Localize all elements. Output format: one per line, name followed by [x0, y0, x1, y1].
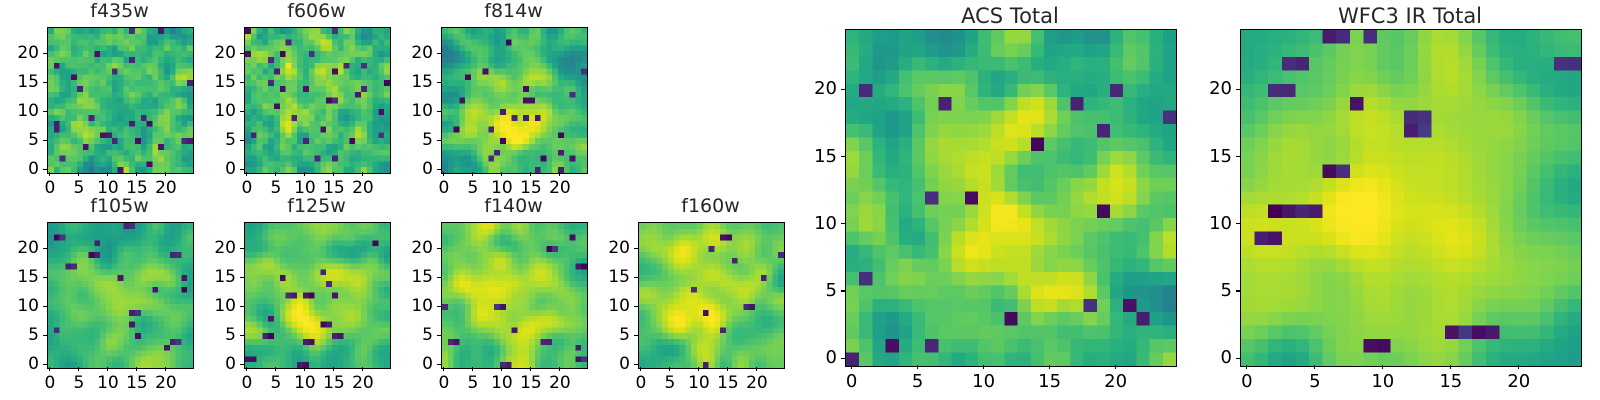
x-axis-tick: [275, 367, 276, 371]
y-axis-tick: [43, 248, 47, 249]
y-axis-tick: [634, 364, 638, 365]
x-axis-tick-label: 15: [1431, 371, 1471, 392]
y-axis-tick: [437, 82, 441, 83]
y-axis-tick: [43, 53, 47, 54]
x-axis-tick: [530, 172, 531, 176]
x-axis-tick: [530, 367, 531, 371]
y-axis-tick: [240, 53, 244, 54]
y-axis-tick: [240, 169, 244, 170]
x-axis-tick-label: 10: [964, 371, 1004, 392]
y-axis-tick-label: 15: [1, 72, 39, 92]
heatmap-image: [638, 222, 785, 369]
y-axis-tick-label: 20: [1, 43, 39, 63]
y-axis-tick-label: 0: [592, 354, 630, 374]
x-axis-tick: [1450, 365, 1451, 369]
x-axis-tick: [49, 367, 50, 371]
y-axis-tick: [43, 140, 47, 141]
y-axis-tick-label: 10: [1, 296, 39, 316]
y-axis-tick: [43, 277, 47, 278]
heatmap-image: [441, 222, 588, 369]
panel-f125w: f125w0510152005101520: [198, 195, 389, 400]
y-axis-tick-label: 0: [1, 159, 39, 179]
panel-title: f435w: [47, 0, 192, 22]
x-axis-tick: [727, 367, 728, 371]
y-axis-tick: [240, 82, 244, 83]
x-axis-tick: [78, 367, 79, 371]
y-axis-tick-label: 0: [799, 347, 837, 368]
y-axis-tick-label: 5: [1194, 280, 1232, 301]
x-axis-tick: [501, 367, 502, 371]
heatmap-pixels: [442, 223, 587, 368]
y-axis-tick-label: 15: [1, 267, 39, 287]
y-axis-tick: [43, 306, 47, 307]
panel-f160w: f160w0510152005101520: [592, 195, 783, 400]
x-axis-tick: [1115, 365, 1116, 369]
panel-f814w: f814w0510152005101520: [395, 0, 586, 205]
x-axis-tick: [443, 367, 444, 371]
y-axis-tick: [437, 277, 441, 278]
y-axis-tick: [634, 277, 638, 278]
x-axis-tick-label: 0: [832, 371, 872, 392]
x-axis-tick: [851, 365, 852, 369]
x-axis-tick: [917, 365, 918, 369]
heatmap-pixels: [48, 223, 193, 368]
y-axis-tick: [841, 156, 845, 157]
heatmap-pixels: [1241, 30, 1581, 366]
panel-wfc3_ir_total: WFC3 IR Total0510152005101520: [1194, 2, 1580, 398]
y-axis-tick: [240, 111, 244, 112]
panel-title: f105w: [47, 195, 192, 217]
x-axis-tick: [669, 367, 670, 371]
y-axis-tick-label: 20: [395, 238, 433, 258]
x-axis-tick: [559, 367, 560, 371]
y-axis-tick: [1236, 223, 1240, 224]
panel-acs_total: ACS Total0510152005101520: [799, 2, 1175, 398]
x-axis-tick-label: 5: [898, 371, 938, 392]
y-axis-tick-label: 15: [198, 72, 236, 92]
x-axis-tick: [136, 367, 137, 371]
y-axis-tick: [437, 111, 441, 112]
x-axis-tick-label: 20: [540, 373, 580, 393]
x-axis-tick: [756, 367, 757, 371]
x-axis-tick: [304, 172, 305, 176]
y-axis-tick: [437, 335, 441, 336]
x-axis-tick: [1518, 365, 1519, 369]
y-axis-tick: [437, 53, 441, 54]
x-axis-tick: [1246, 365, 1247, 369]
heatmap-image: [47, 222, 194, 369]
y-axis-tick-label: 20: [198, 238, 236, 258]
y-axis-tick-label: 5: [799, 280, 837, 301]
panel-title: f814w: [441, 0, 586, 22]
y-axis-tick: [240, 335, 244, 336]
y-axis-tick-label: 15: [395, 267, 433, 287]
y-axis-tick-label: 20: [592, 238, 630, 258]
panel-title: f160w: [638, 195, 783, 217]
y-axis-tick: [43, 111, 47, 112]
x-axis-tick-label: 5: [1295, 371, 1335, 392]
y-axis-tick: [1236, 156, 1240, 157]
y-axis-tick-label: 10: [395, 296, 433, 316]
heatmap-image: [441, 27, 588, 174]
y-axis-tick: [1236, 89, 1240, 90]
x-axis-tick: [165, 367, 166, 371]
x-axis-tick-label: 15: [1030, 371, 1070, 392]
x-axis-tick: [362, 367, 363, 371]
x-axis-tick: [640, 367, 641, 371]
x-axis-tick: [472, 367, 473, 371]
x-axis-tick: [983, 365, 984, 369]
y-axis-tick-label: 5: [395, 130, 433, 150]
y-axis-tick-label: 0: [1194, 347, 1232, 368]
y-axis-tick-label: 10: [1, 101, 39, 121]
y-axis-tick-label: 0: [198, 159, 236, 179]
x-axis-tick: [472, 172, 473, 176]
panel-title: WFC3 IR Total: [1240, 4, 1580, 28]
x-axis-tick-label: 20: [1096, 371, 1136, 392]
panel-f606w: f606w0510152005101520: [198, 0, 389, 205]
x-axis-tick: [107, 172, 108, 176]
y-axis-tick: [1236, 358, 1240, 359]
x-axis-tick-label: 20: [737, 373, 777, 393]
y-axis-tick: [437, 169, 441, 170]
y-axis-tick-label: 20: [198, 43, 236, 63]
y-axis-tick: [240, 140, 244, 141]
x-axis-tick: [333, 367, 334, 371]
x-axis-tick: [1049, 365, 1050, 369]
heatmap-image: [1240, 29, 1582, 367]
y-axis-tick-label: 15: [1194, 146, 1232, 167]
y-axis-tick: [841, 89, 845, 90]
y-axis-tick: [240, 248, 244, 249]
y-axis-tick-label: 5: [1, 325, 39, 345]
y-axis-tick-label: 0: [198, 354, 236, 374]
y-axis-tick-label: 15: [592, 267, 630, 287]
x-axis-tick: [362, 172, 363, 176]
x-axis-tick: [165, 172, 166, 176]
y-axis-tick: [634, 248, 638, 249]
x-axis-tick: [333, 172, 334, 176]
x-axis-tick: [107, 367, 108, 371]
y-axis-tick-label: 0: [1, 354, 39, 374]
y-axis-tick-label: 0: [395, 159, 433, 179]
panel-title: f140w: [441, 195, 586, 217]
x-axis-tick: [1314, 365, 1315, 369]
y-axis-tick-label: 0: [395, 354, 433, 374]
y-axis-tick-label: 10: [198, 101, 236, 121]
x-axis-tick: [1382, 365, 1383, 369]
y-axis-tick-label: 5: [592, 325, 630, 345]
x-axis-tick-label: 10: [1363, 371, 1403, 392]
y-axis-tick: [240, 364, 244, 365]
y-axis-tick: [437, 306, 441, 307]
y-axis-tick-label: 10: [592, 296, 630, 316]
y-axis-tick-label: 20: [1194, 78, 1232, 99]
y-axis-tick: [43, 364, 47, 365]
x-axis-tick-label: 20: [1499, 371, 1539, 392]
y-axis-tick-label: 20: [1, 238, 39, 258]
x-axis-tick: [443, 172, 444, 176]
x-axis-tick-label: 20: [343, 373, 383, 393]
y-axis-tick: [437, 364, 441, 365]
x-axis-tick: [501, 172, 502, 176]
heatmap-pixels: [245, 28, 390, 173]
y-axis-tick: [437, 248, 441, 249]
x-axis-tick: [246, 367, 247, 371]
heatmap-pixels: [245, 223, 390, 368]
heatmap-pixels: [48, 28, 193, 173]
y-axis-tick: [634, 306, 638, 307]
x-axis-tick-label: 20: [146, 373, 186, 393]
heatmap-image: [845, 29, 1177, 367]
panel-f105w: f105w0510152005101520: [1, 195, 192, 400]
x-axis-tick: [559, 172, 560, 176]
x-axis-tick: [78, 172, 79, 176]
y-axis-tick-label: 5: [1, 130, 39, 150]
y-axis-tick-label: 10: [799, 213, 837, 234]
panel-title: ACS Total: [845, 4, 1175, 28]
y-axis-tick-label: 10: [1194, 213, 1232, 234]
x-axis-tick: [49, 172, 50, 176]
y-axis-tick: [634, 335, 638, 336]
y-axis-tick-label: 20: [799, 78, 837, 99]
x-axis-tick: [304, 367, 305, 371]
panel-title: f606w: [244, 0, 389, 22]
x-axis-tick: [136, 172, 137, 176]
y-axis-tick-label: 5: [198, 130, 236, 150]
y-axis-tick-label: 20: [395, 43, 433, 63]
y-axis-tick-label: 15: [395, 72, 433, 92]
y-axis-tick: [240, 306, 244, 307]
panel-title: f125w: [244, 195, 389, 217]
y-axis-tick-label: 15: [799, 146, 837, 167]
y-axis-tick: [437, 140, 441, 141]
y-axis-tick-label: 5: [198, 325, 236, 345]
y-axis-tick: [43, 82, 47, 83]
y-axis-tick: [43, 335, 47, 336]
x-axis-tick: [275, 172, 276, 176]
heatmap-image: [244, 27, 391, 174]
panel-f435w: f435w0510152005101520: [1, 0, 192, 205]
y-axis-tick-label: 15: [198, 267, 236, 287]
x-axis-tick: [246, 172, 247, 176]
heatmap-image: [47, 27, 194, 174]
panel-f140w: f140w0510152005101520: [395, 195, 586, 400]
heatmap-image: [244, 222, 391, 369]
y-axis-tick-label: 10: [198, 296, 236, 316]
y-axis-tick: [841, 290, 845, 291]
y-axis-tick-label: 10: [395, 101, 433, 121]
x-axis-tick-label: 0: [1227, 371, 1267, 392]
y-axis-tick: [841, 358, 845, 359]
y-axis-tick: [841, 223, 845, 224]
y-axis-tick: [240, 277, 244, 278]
y-axis-tick: [43, 169, 47, 170]
heatmap-pixels: [846, 30, 1176, 366]
y-axis-tick-label: 5: [395, 325, 433, 345]
heatmap-pixels: [442, 28, 587, 173]
y-axis-tick: [1236, 290, 1240, 291]
heatmap-pixels: [639, 223, 784, 368]
x-axis-tick: [698, 367, 699, 371]
